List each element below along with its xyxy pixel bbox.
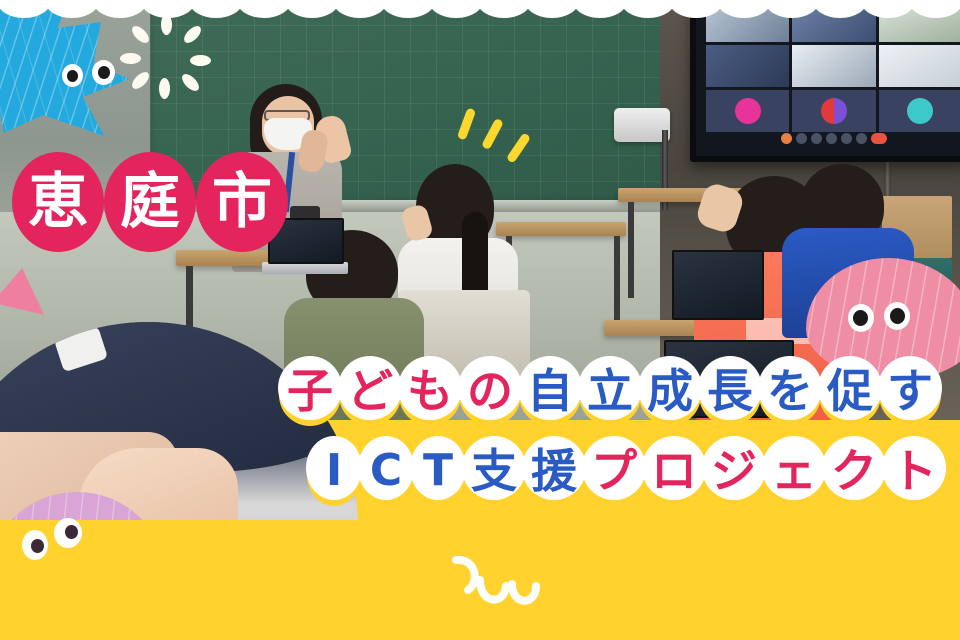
scallop-bump (285, 0, 339, 18)
video-tile (706, 45, 789, 87)
title-char: の (458, 356, 522, 426)
pink-blob-eye-right (884, 302, 910, 330)
title-char: ジ (702, 436, 766, 506)
scallop-edge (0, 0, 960, 18)
scallop-bump (573, 0, 627, 18)
headline-line-1: 子 ど も の 自 立 成 長 を 促 す (0, 356, 960, 426)
scallop-bump (717, 0, 771, 18)
city-char-1: 恵 (12, 152, 104, 252)
blue-star-eye-right (92, 60, 115, 85)
title-char: T (410, 436, 466, 506)
scallop-bump (45, 0, 99, 18)
scallop-bump (813, 0, 867, 18)
title-char: を (758, 356, 822, 426)
scallop-bump (765, 0, 819, 18)
scallop-bump (429, 0, 483, 18)
title-char: 子 (278, 356, 342, 426)
title-char: ど (338, 356, 402, 426)
camera-icon (796, 133, 807, 144)
scallop-bump (909, 0, 960, 18)
title-char: 援 (522, 436, 586, 506)
video-tile (879, 45, 960, 87)
city-name: 恵 庭 市 (12, 152, 288, 252)
share-icon (811, 133, 822, 144)
video-tile-avatar (706, 90, 789, 132)
scallop-bump (669, 0, 723, 18)
scallop-bump (93, 0, 147, 18)
scallop-bump (621, 0, 675, 18)
scallop-bump (333, 0, 387, 18)
title-char: も (398, 356, 462, 426)
headline-line-2: I C T 支 援 プ ロ ジ ェ ク ト (0, 436, 960, 506)
blue-star-eye-left (62, 64, 83, 87)
title-char: プ (582, 436, 646, 506)
title-char: ク (822, 436, 886, 506)
scallop-bump (141, 0, 195, 18)
title-char: 長 (698, 356, 762, 426)
sunburst-icon (125, 14, 209, 98)
white-swoosh-icon (450, 556, 560, 612)
promo-banner: 恵 庭 市 子 ど も の 自 立 成 長 を 促 す I C T 支 援 プ … (0, 0, 960, 640)
participants-icon (826, 133, 837, 144)
avatar (821, 98, 847, 124)
video-tile (792, 45, 875, 87)
more-icon (856, 133, 867, 144)
end-call-icon (871, 133, 887, 144)
scallop-bump (861, 0, 915, 18)
scallop-bump (237, 0, 291, 18)
scallop-bump (189, 0, 243, 18)
purple-arch-eye-right (54, 518, 82, 548)
city-char-3: 市 (196, 152, 288, 252)
title-char: C (358, 436, 414, 506)
title-char: 立 (578, 356, 642, 426)
scallop-bump (0, 0, 51, 18)
video-call-toolbar (696, 128, 960, 148)
desk (496, 222, 626, 236)
mic-icon (781, 133, 792, 144)
chat-icon (841, 133, 852, 144)
desk-leg (614, 236, 620, 322)
scallop-bump (477, 0, 531, 18)
title-char: 促 (818, 356, 882, 426)
title-char: 支 (462, 436, 526, 506)
desk-leg (628, 202, 634, 298)
title-char: 成 (638, 356, 702, 426)
pink-blob-eye-left (848, 304, 874, 332)
title-char: I (306, 436, 362, 506)
avatar (907, 98, 933, 124)
video-call-grid (706, 0, 960, 132)
laptop-screen (672, 250, 764, 320)
title-char: す (878, 356, 942, 426)
title-char: ト (882, 436, 946, 506)
scallop-bump (525, 0, 579, 18)
video-tile-avatar (879, 90, 960, 132)
title-char: ロ (642, 436, 706, 506)
wall-display (690, 0, 960, 162)
title-char: ェ (762, 436, 826, 506)
scallop-bump (381, 0, 435, 18)
avatar (735, 98, 761, 124)
purple-arch-eye-left (22, 530, 48, 560)
title-char: 自 (518, 356, 582, 426)
city-badge: 恵 庭 市 (12, 150, 280, 254)
headline: 子 ど も の 自 立 成 長 を 促 す I C T 支 援 プ ロ ジ ェ … (0, 356, 960, 506)
city-char-2: 庭 (104, 152, 196, 252)
video-tile-avatar (792, 90, 875, 132)
